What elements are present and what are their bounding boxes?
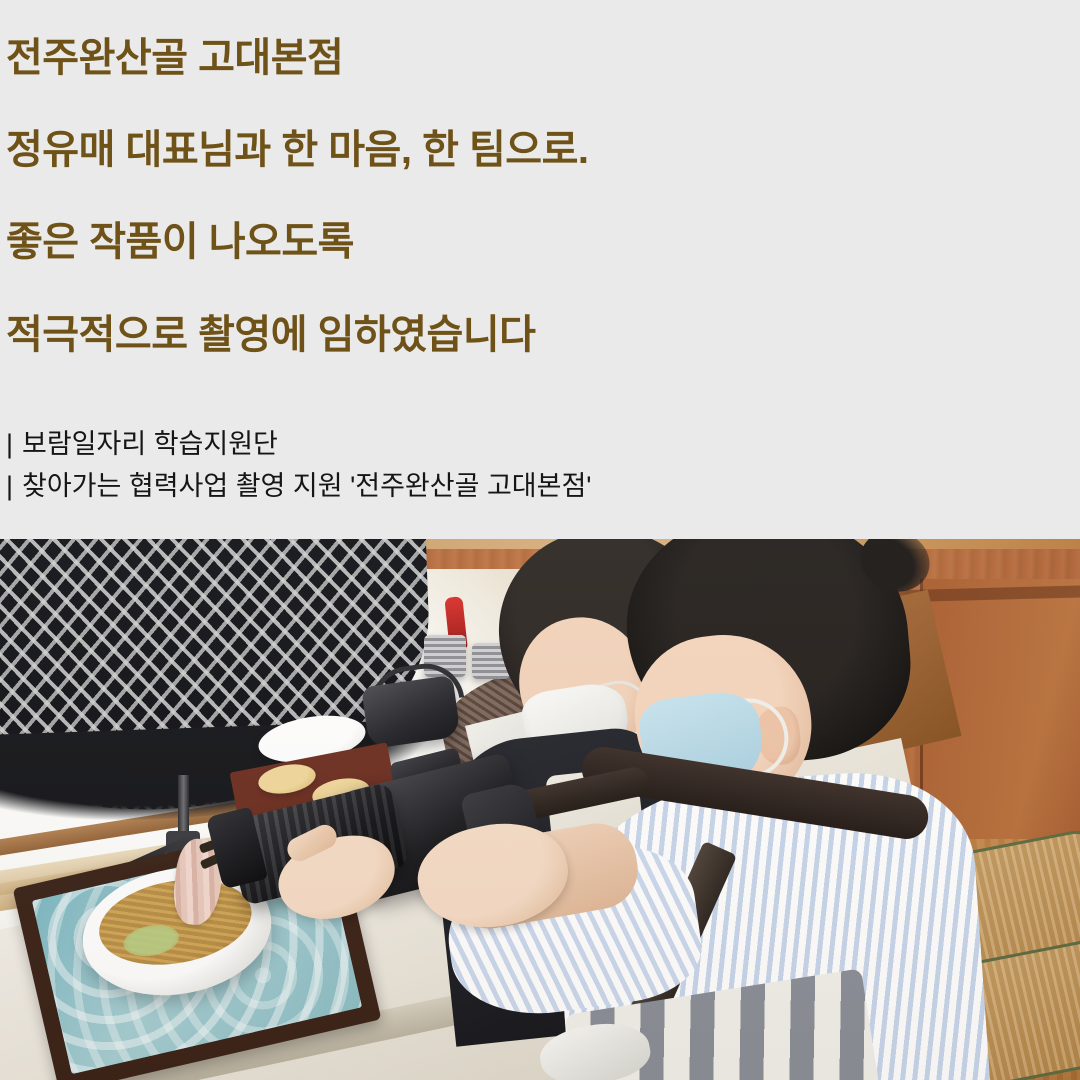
- caption-line-1-text: 보람일자리 학습지원단: [22, 424, 278, 466]
- photo-restaurant-shoot: [0, 539, 1080, 1080]
- headline-line-1: 전주완산골 고대본점: [6, 36, 343, 80]
- caption-line-2: | 찾아가는 협력사업 촬영 지원 '전주완산골 고대본점': [6, 466, 1006, 508]
- caption-line-2-text: 찾아가는 협력사업 촬영 지원 '전주완산골 고대본점': [22, 466, 591, 508]
- vertical-bar-icon: |: [6, 424, 22, 466]
- headline-line-4: 적극적으로 촬영에 임하였습니다: [6, 313, 535, 357]
- headline-line-2: 정유매 대표님과 한 마음, 한 팀으로.: [6, 128, 589, 172]
- caption-line-1: | 보람일자리 학습지원단: [6, 424, 1006, 466]
- poster-card: 전주완산골 고대본점 정유매 대표님과 한 마음, 한 팀으로. 좋은 작품이 …: [0, 0, 1080, 1080]
- headline-line-3: 좋은 작품이 나오도록: [6, 220, 354, 264]
- caption-block: | 보람일자리 학습지원단 | 찾아가는 협력사업 촬영 지원 '전주완산골 고…: [6, 424, 1006, 508]
- vegetable-garnish: [121, 921, 181, 960]
- vertical-bar-icon: |: [6, 466, 22, 508]
- text-panel: 전주완산골 고대본점 정유매 대표님과 한 마음, 한 팀으로. 좋은 작품이 …: [0, 0, 1080, 539]
